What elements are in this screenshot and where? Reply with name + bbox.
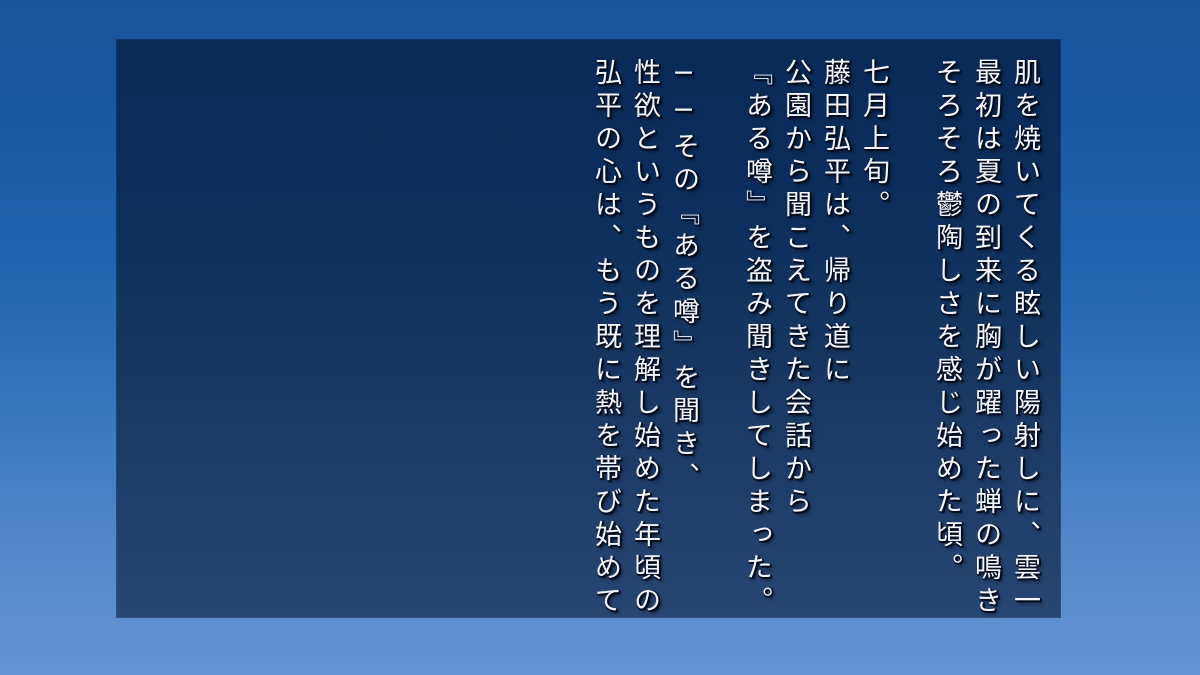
vertical-narration-text: 肌を焼いてくる眩しい陽射しに、雲一つない青空。最初は夏の到来に胸が躍った蝉の鳴き…: [580, 58, 1038, 598]
text-column: 藤田弘平は、帰り道に: [821, 58, 848, 598]
text-panel[interactable]: 肌を焼いてくる眩しい陽射しに、雲一つない青空。最初は夏の到来に胸が躍った蝉の鳴き…: [117, 40, 1060, 617]
text-column: そろそろ鬱陶しさを感じ始めた頃。: [933, 58, 960, 598]
text-column: 弘平の心は、もう既に熱を帯び始めていた……。: [592, 58, 619, 598]
text-column: 性欲というものを理解し始めた年頃の: [631, 58, 658, 598]
text-column: 肌を焼いてくる眩しい陽射しに、雲一つない青空。: [1011, 58, 1038, 598]
text-column-spacer: [899, 58, 921, 598]
text-column: 『ある噂』を盗み聞きしてしまった。: [743, 58, 770, 598]
text-column: 最初は夏の到来に胸が躍った蝉の鳴き声にも、: [972, 58, 999, 598]
text-column-spacer: [709, 58, 731, 598]
text-column: 公園から聞こえてきた会話から: [782, 58, 809, 598]
text-column: ──その『ある噂』を聞き、: [670, 58, 697, 598]
text-column: 七月上旬。: [860, 58, 887, 598]
